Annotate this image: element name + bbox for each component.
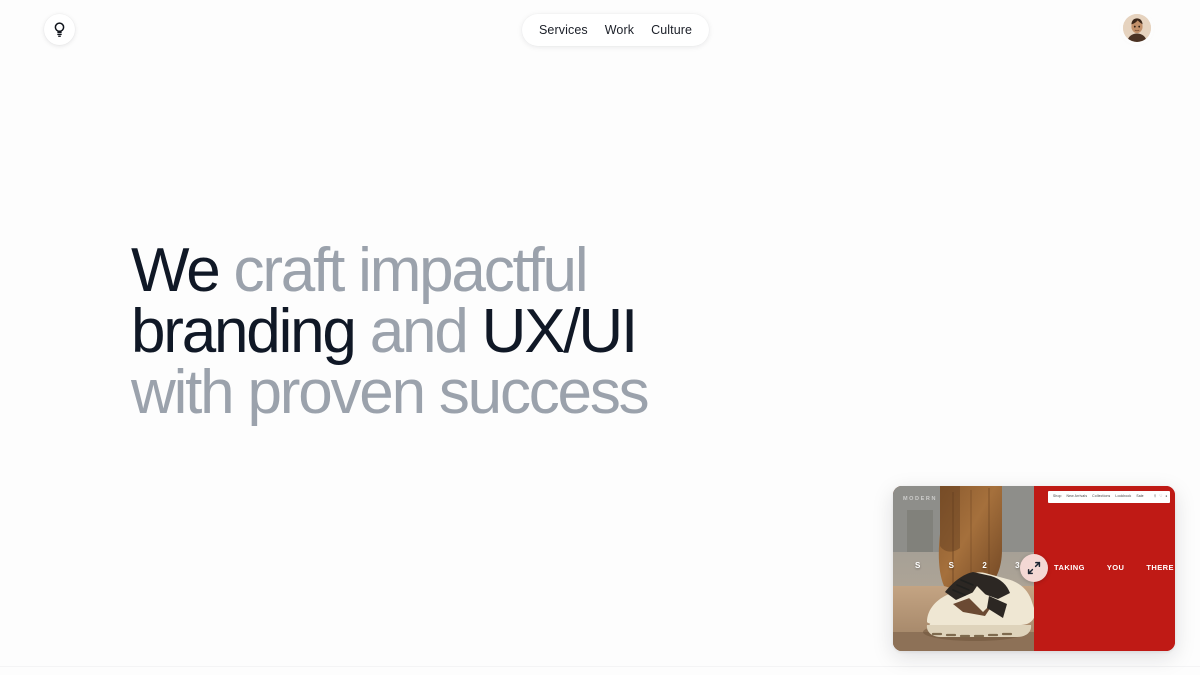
season-label: S S 2 3 <box>915 561 1020 570</box>
mini-nav-item-lookbook[interactable]: Lookbook <box>1115 495 1131 498</box>
card-tagline: TAKING YOU THERE <box>1054 563 1174 572</box>
top-navigation-bar: Services Work Culture <box>0 0 1200 60</box>
headline-line-2: branding and UX/UI <box>131 301 771 362</box>
mini-nav-icon-group: ⚲ ♡ ● ▤ <box>1154 495 1170 498</box>
headline-line-3: with proven success <box>131 362 771 423</box>
headline-phrase-craft-impactful: craft impactful <box>234 236 587 305</box>
season-char-3: 2 <box>982 561 987 570</box>
headline-word-uxui: UX/UI <box>482 297 636 366</box>
tagline-word-taking: TAKING <box>1054 563 1085 572</box>
tagline-word-there: THERE <box>1146 563 1174 572</box>
season-char-1: S <box>915 561 921 570</box>
mini-nav-item-collections[interactable]: Collections <box>1092 495 1110 498</box>
bottom-divider <box>0 666 1200 667</box>
logo-button[interactable] <box>44 14 75 45</box>
nav-item-culture[interactable]: Culture <box>651 24 692 37</box>
lightbulb-icon <box>53 22 66 37</box>
mini-nav-item-new[interactable]: New Arrivals <box>1067 495 1088 498</box>
nav-item-services[interactable]: Services <box>539 24 588 37</box>
page-root: Services Work Culture We craft impactful… <box>0 0 1200 675</box>
headline-word-we: We <box>131 236 218 305</box>
expand-button[interactable] <box>1020 554 1048 582</box>
main-nav-pill: Services Work Culture <box>522 14 709 46</box>
mini-nav-item-sale[interactable]: Sale <box>1136 495 1143 498</box>
mini-nav-item-shop[interactable]: Shop <box>1053 495 1062 498</box>
hero-headline: We craft impactful branding and UX/UI wi… <box>131 240 771 423</box>
avatar-image <box>1123 14 1151 42</box>
headline-word-branding: branding <box>131 297 355 366</box>
nav-item-work[interactable]: Work <box>605 24 634 37</box>
expand-diagonal-icon <box>1027 561 1041 575</box>
headline-word-and: and <box>370 297 467 366</box>
avatar[interactable] <box>1123 14 1151 42</box>
headline-line-1: We craft impactful <box>131 240 771 301</box>
season-char-2: S <box>949 561 955 570</box>
card-red-panel: Shop New Arrivals Collections Lookbook S… <box>1034 486 1175 651</box>
card-photo: MODERN S S 2 3 <box>893 486 1034 651</box>
card-brand-mark: MODERN <box>903 496 937 502</box>
search-icon[interactable]: ⚲ <box>1154 495 1156 498</box>
tagline-word-you: YOU <box>1107 563 1125 572</box>
user-icon[interactable]: ● <box>1165 495 1167 498</box>
project-preview-card[interactable]: MODERN S S 2 3 Shop New Arrivals Collect… <box>893 486 1175 651</box>
heart-icon[interactable]: ♡ <box>1159 495 1162 498</box>
card-mini-navbar[interactable]: Shop New Arrivals Collections Lookbook S… <box>1048 491 1170 503</box>
headline-phrase-with-proven-success: with proven success <box>131 358 647 427</box>
